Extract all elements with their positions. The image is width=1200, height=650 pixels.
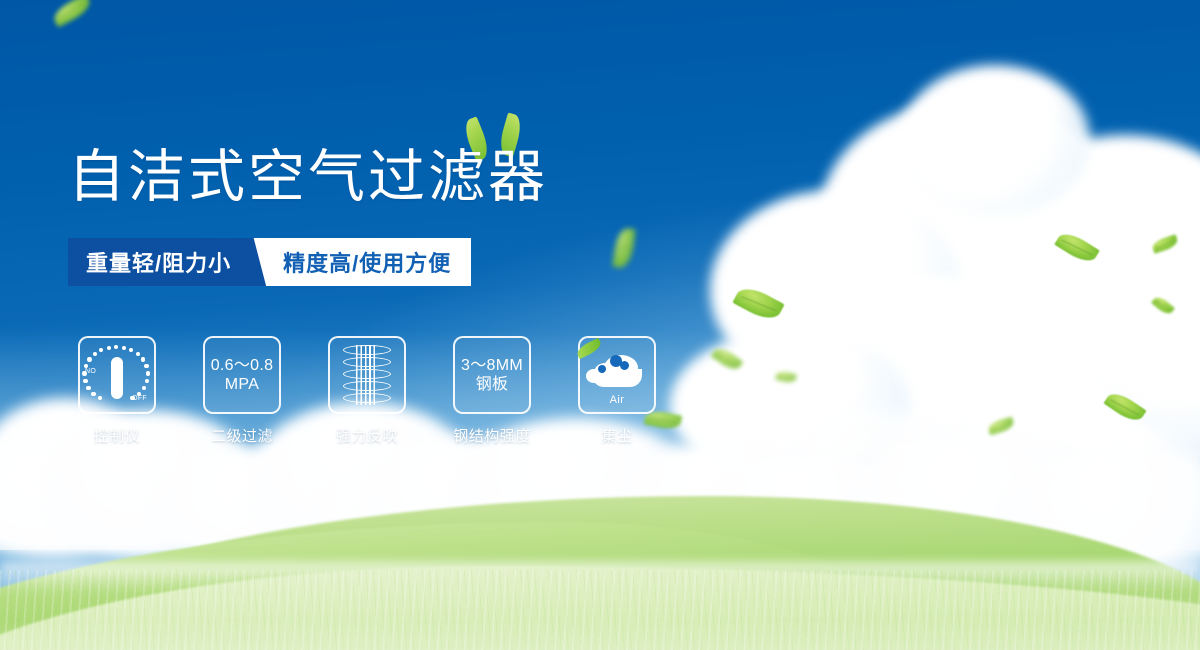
feature-icon-box: 0.6～0.8 MPA (203, 336, 281, 414)
feature-icon-box: Air (578, 336, 656, 414)
pressure-range: 0.6～0.8 (211, 356, 274, 375)
feature-label: 二级过滤 (211, 425, 273, 446)
dial-no-label: NO (85, 368, 96, 375)
steel-plate-text-icon: 3～8MM 钢板 (461, 356, 523, 394)
steel-material: 钢板 (461, 375, 523, 394)
feature-label: 钢结构强度 (453, 425, 531, 446)
dial-gauge-icon: NO OFF (83, 341, 151, 409)
air-cloud-icon: Air (586, 347, 648, 403)
feature-label: 强力反吹 (336, 425, 398, 446)
steel-thickness: 3～8MM (461, 356, 523, 375)
filter-cartridge-icon (339, 345, 395, 405)
feature-item-secondary-filter[interactable]: 0.6～0.8 MPA 二级过滤 (203, 336, 281, 446)
feature-label: 集尘 (601, 425, 632, 446)
feature-label: 控制仪 (94, 425, 141, 446)
subtitle-right: 精度高/使用方便 (253, 238, 471, 286)
air-label: Air (586, 394, 648, 406)
feature-item-backblow[interactable]: 强力反吹 (328, 336, 406, 446)
subtitle-banner: 重量轻/阻力小 精度高/使用方便 (68, 238, 471, 286)
dial-off-label: OFF (132, 395, 147, 402)
feature-item-controller[interactable]: NO OFF 控制仪 (78, 336, 156, 446)
feature-item-steel-strength[interactable]: 3～8MM 钢板 钢结构强度 (453, 336, 531, 446)
feature-item-dust-collection[interactable]: Air 集尘 (578, 336, 656, 446)
feature-list: NO OFF 控制仪 0.6～0.8 MPA 二级过滤 (78, 336, 656, 446)
feature-icon-box: NO OFF (78, 336, 156, 414)
subtitle-left: 重量轻/阻力小 (68, 238, 253, 286)
pressure-text-icon: 0.6～0.8 MPA (211, 356, 274, 394)
hero-banner: 自洁式空气过滤器 重量轻/阻力小 精度高/使用方便 (0, 0, 1200, 650)
feature-icon-box: 3～8MM 钢板 (453, 336, 531, 414)
pressure-unit: MPA (211, 375, 274, 394)
page-title: 自洁式空气过滤器 (68, 142, 548, 212)
feature-icon-box (328, 336, 406, 414)
